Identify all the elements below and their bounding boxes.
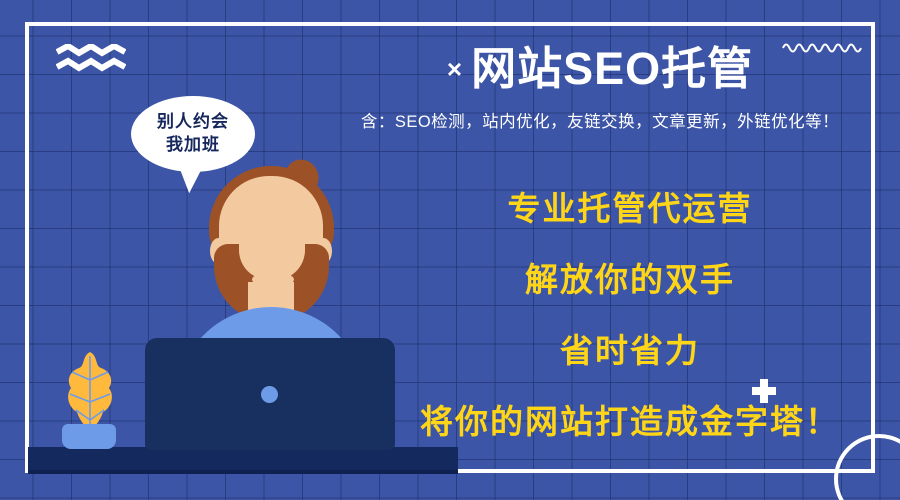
- page-title-text: 网站SEO托管: [471, 43, 753, 94]
- slogan-line-4: 将你的网站打造成金字塔！: [380, 405, 880, 438]
- page-subtitle: 含：SEO检测，站内优化，友链交换，文章更新，外链优化等！: [300, 108, 900, 132]
- circle-outline-icon: [834, 434, 900, 500]
- x-mark-icon: ×: [447, 54, 463, 84]
- slogan-line-3: 省时省力: [380, 334, 880, 367]
- header-block: ×网站SEO托管 含：SEO检测，站内优化，友链交换，文章更新，外链优化等！: [300, 44, 900, 132]
- plant-pot: [62, 424, 116, 449]
- laptop-logo-icon: [261, 386, 278, 403]
- slogan-line-2: 解放你的双手: [380, 263, 880, 296]
- speech-bubble: 别人约会 我加班: [131, 96, 255, 172]
- slogan-list: 专业托管代运营 解放你的双手 省时省力 将你的网站打造成金字塔！: [380, 192, 880, 438]
- speech-bubble-line-2: 我加班: [166, 134, 220, 157]
- plant-leaf-icon: [62, 350, 118, 432]
- desk-edge: [28, 470, 458, 474]
- page-title: ×网站SEO托管: [300, 44, 900, 94]
- seo-hosting-banner: 别人约会 我加班 ×网站SEO托管 含：SEO检测，站内优化，友链交换，文章更新…: [0, 0, 900, 500]
- slogan-line-1: 专业托管代运营: [380, 192, 880, 225]
- speech-bubble-line-1: 别人约会: [157, 111, 229, 134]
